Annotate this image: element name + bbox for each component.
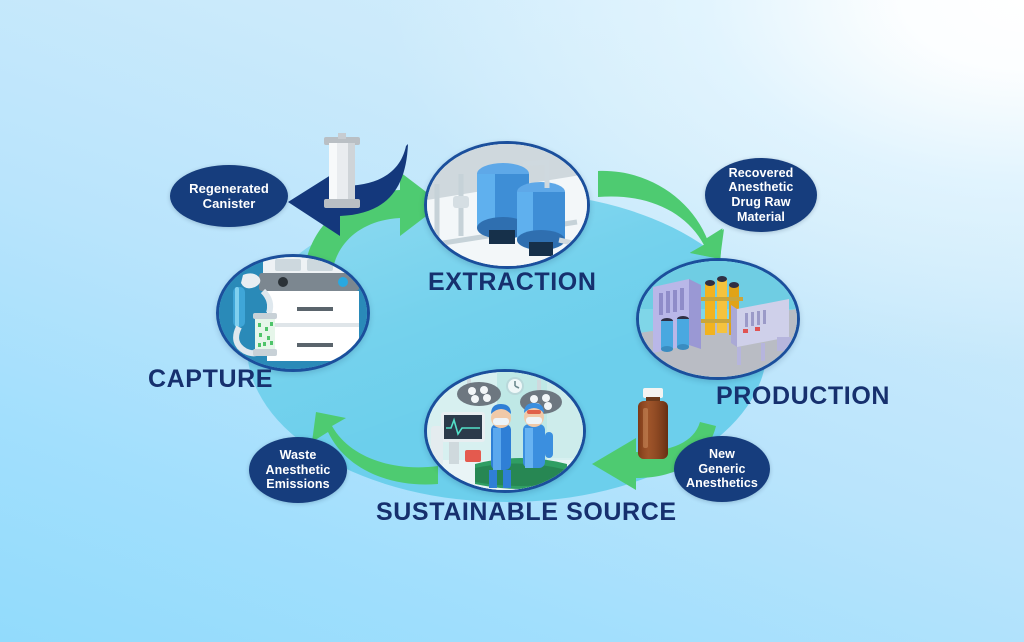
callout-line: Generic: [676, 462, 768, 477]
callout-line: Drug Raw: [719, 195, 804, 210]
callout-regenerated-canister[interactable]: Regenerated Canister: [170, 165, 288, 227]
callout-line: Anesthetic: [719, 180, 804, 195]
callout-line: Anesthetic: [256, 463, 341, 478]
stage-node-sustainable-source[interactable]: [424, 369, 586, 493]
callout-line: Canister: [179, 196, 279, 211]
regenerated-canister-object: [320, 133, 364, 217]
stage-node-capture[interactable]: [216, 254, 370, 372]
stage-label-capture: CAPTURE: [148, 365, 273, 394]
stage-node-production[interactable]: [636, 258, 800, 380]
callout-line: Emissions: [256, 477, 341, 492]
callout-line: Recovered: [719, 166, 804, 181]
stage-label-sustainable-source: SUSTAINABLE SOURCE: [376, 498, 677, 527]
callout-line: Material: [719, 210, 804, 225]
callout-recovered-anesthetic-drug-raw-material[interactable]: Recovered Anesthetic Drug Raw Material: [705, 158, 817, 232]
callout-line: Anesthetics: [676, 476, 768, 491]
callout-line: Waste: [256, 448, 341, 463]
callout-new-generic-anesthetics[interactable]: New Generic Anesthetics: [674, 436, 770, 502]
callout-waste-anesthetic-emissions[interactable]: Waste Anesthetic Emissions: [249, 437, 347, 503]
diagram-canvas: EXTRACTION PRODUCTION SUSTAINABLE SOURCE…: [0, 0, 1024, 642]
callout-line: Regenerated: [179, 181, 279, 196]
callout-line: New: [676, 447, 768, 462]
stage-node-extraction[interactable]: [424, 141, 590, 269]
stage-label-extraction: EXTRACTION: [428, 268, 597, 297]
stage-label-production: PRODUCTION: [716, 382, 890, 411]
